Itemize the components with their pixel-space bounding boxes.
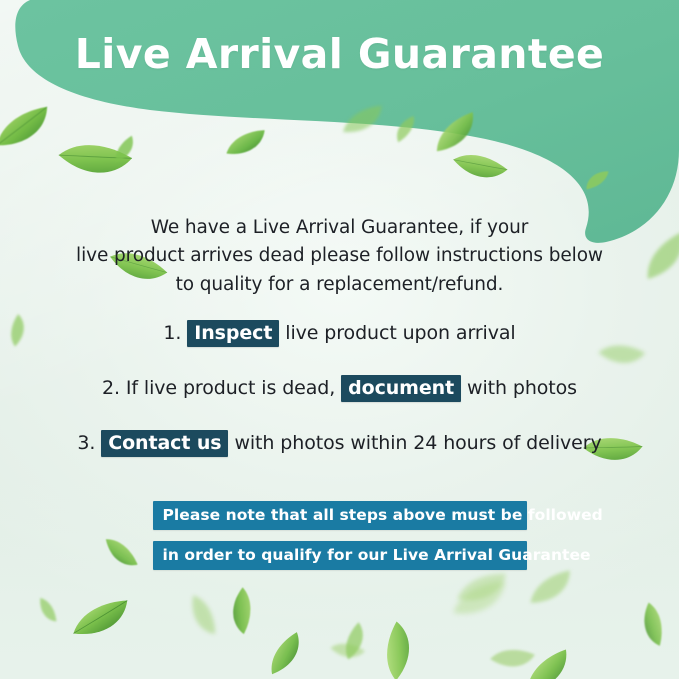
step-1-text: live product upon arrival bbox=[285, 322, 515, 344]
live-arrival-guarantee-poster: Live Arrival Guarantee We have a Live Ar… bbox=[0, 0, 679, 679]
step-3-number: 3. bbox=[77, 432, 95, 454]
intro-line-3: to quality for a replacement/refund. bbox=[60, 271, 619, 299]
step-1: 1. Inspect live product upon arrival bbox=[0, 320, 679, 347]
step-3-text: with photos within 24 hours of delivery bbox=[234, 432, 601, 454]
note-line-1: Please note that all steps above must be… bbox=[153, 501, 527, 530]
poster-content: Live Arrival Guarantee We have a Live Ar… bbox=[0, 0, 679, 679]
step-2: 2. If live product is dead, document wit… bbox=[0, 375, 679, 402]
contact-us-badge[interactable]: Contact us bbox=[101, 430, 228, 457]
step-2-number: 2. bbox=[102, 377, 120, 399]
step-3: 3. Contact us with photos within 24 hour… bbox=[0, 430, 679, 457]
note-line-2: in order to qualify for our Live Arrival… bbox=[153, 541, 527, 570]
intro-paragraph: We have a Live Arrival Guarantee, if you… bbox=[60, 214, 619, 299]
page-title: Live Arrival Guarantee bbox=[0, 30, 679, 79]
step-1-number: 1. bbox=[163, 322, 181, 344]
step-2-before-text: If live product is dead, bbox=[126, 377, 335, 399]
intro-line-1: We have a Live Arrival Guarantee, if you… bbox=[60, 214, 619, 242]
document-badge[interactable]: document bbox=[341, 375, 461, 402]
step-2-text: with photos bbox=[467, 377, 577, 399]
intro-line-2: live product arrives dead please follow … bbox=[60, 242, 619, 270]
footer-note: Please note that all steps above must be… bbox=[0, 501, 679, 570]
inspect-badge[interactable]: Inspect bbox=[187, 320, 279, 347]
